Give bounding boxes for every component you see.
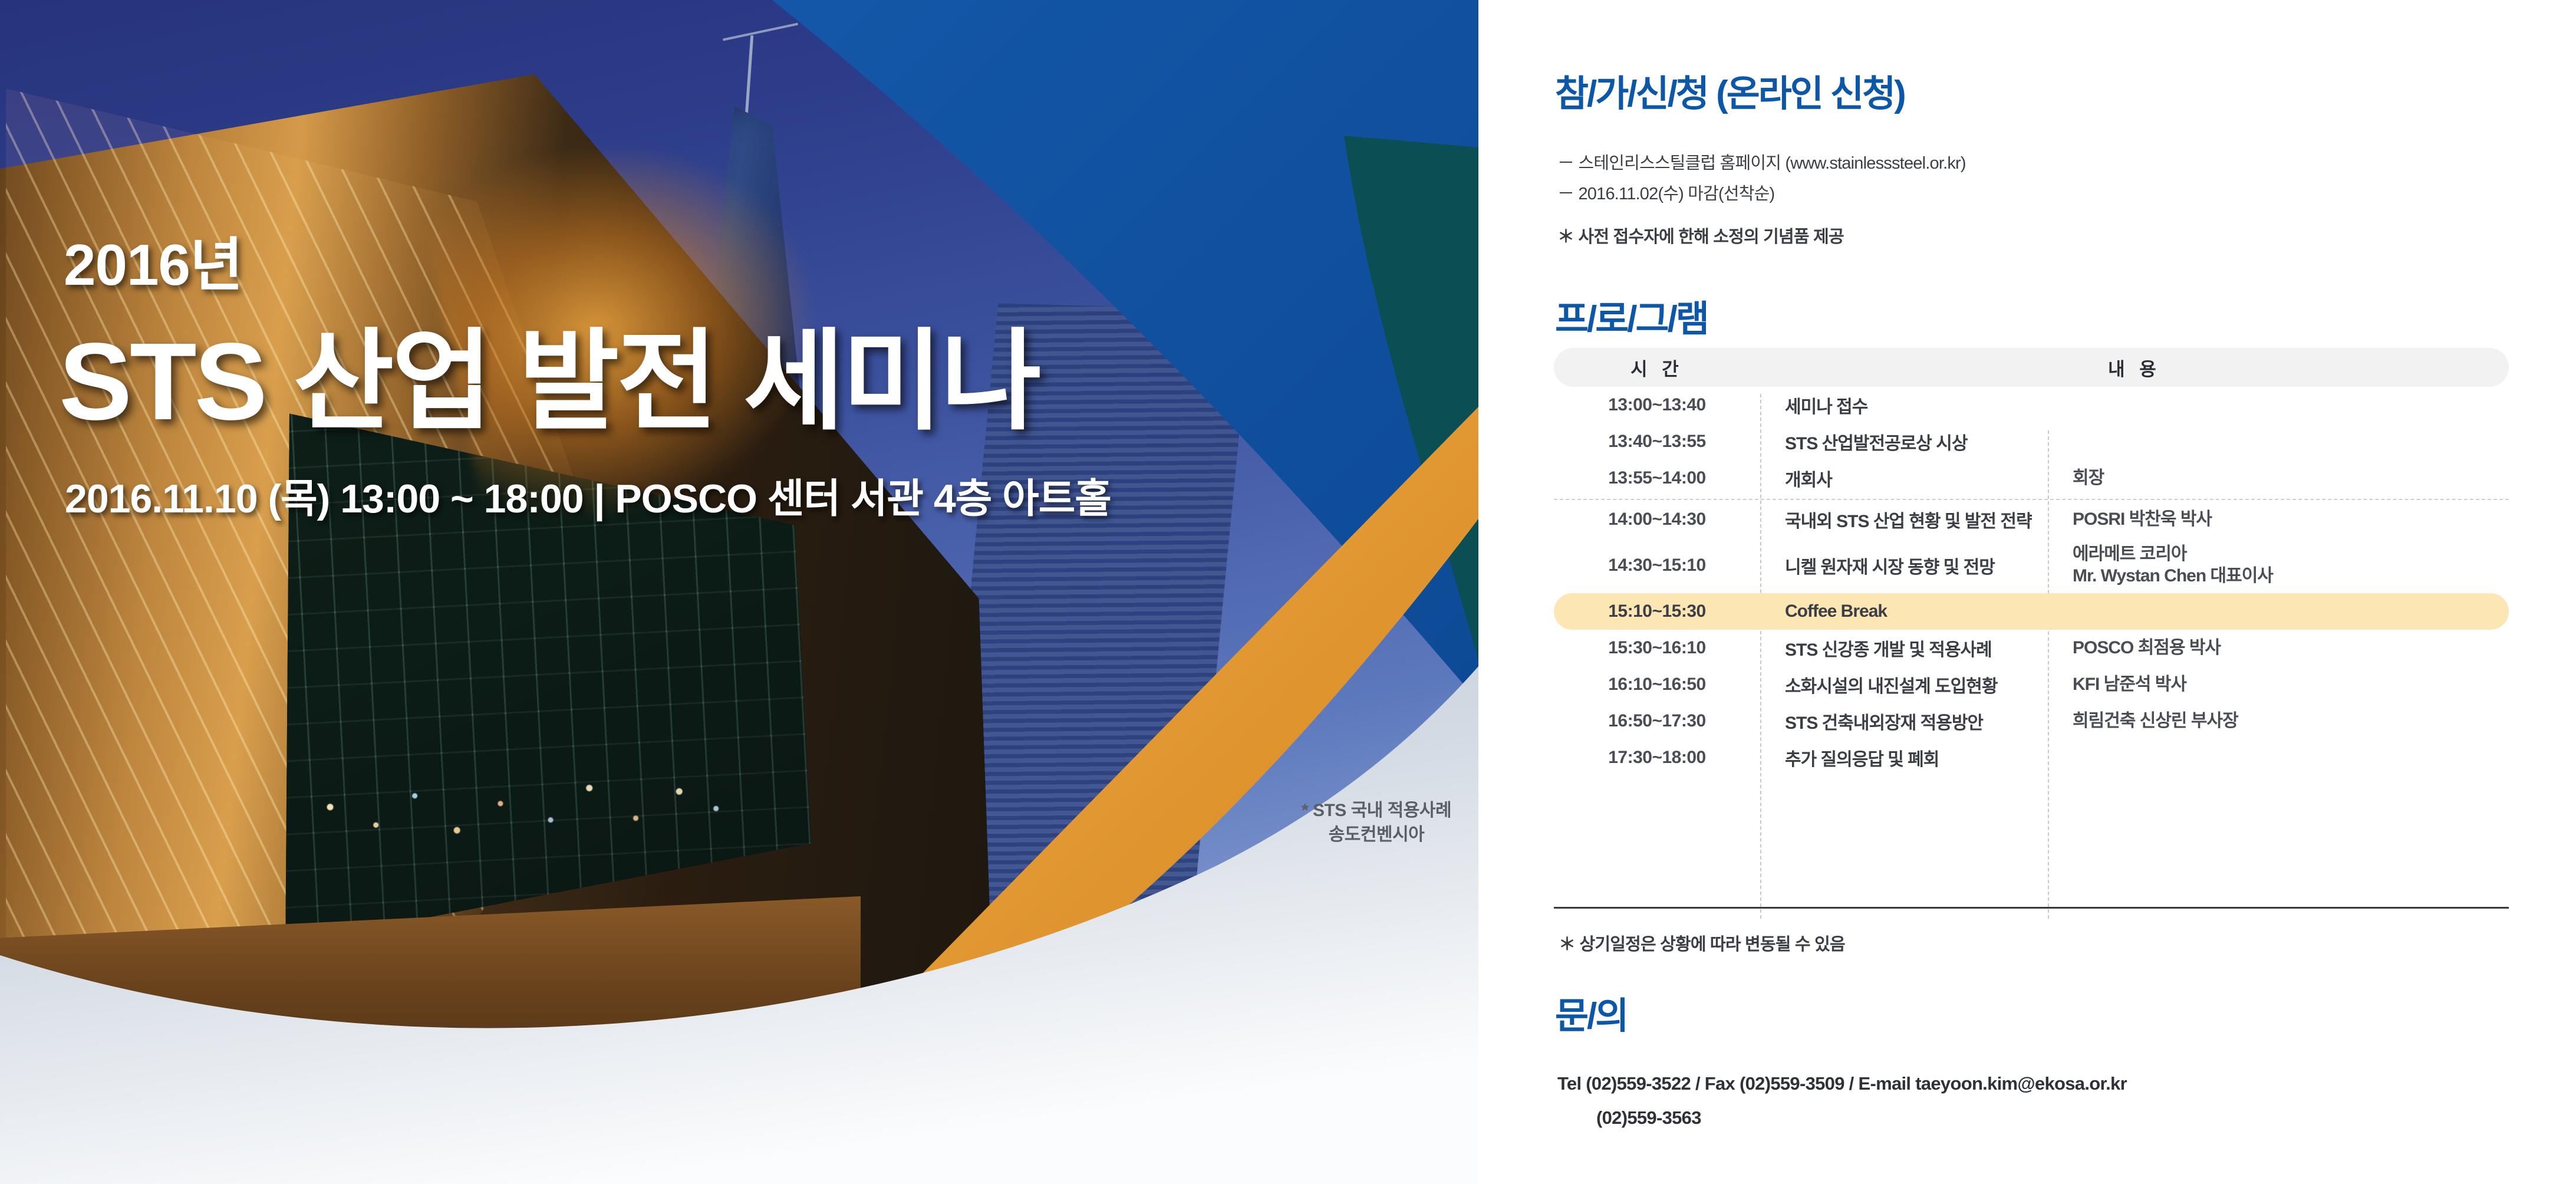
col-header-content: 내 용 [2108,359,2161,380]
table-row: 16:10~16:50소화시설의 내진설계 도입현황KFI 남준석 박사 [1554,666,2509,703]
photo-caption: * STS 국내 적용사례 송도컨벤시아 [1279,799,1474,847]
poster-footer: 주최 한국철강협회 스테인리스스틸클럽 후원 KIM 대한금속 · 재료학회 T… [0,989,1478,1184]
cell-content: 추가 질의응답 및 폐회 [1760,745,2048,771]
cell-speaker: 회장 [2048,468,2509,489]
poster-subtitle: 2016.11.10 (목) 13:00 ~ 18:00 | POSCO 센터 … [65,466,1111,524]
cell-content: 세미나 접수 [1760,392,2048,418]
inquiry-contact-line1: Tel (02)559-3522 / Fax (02)559-3509 / E-… [1557,1073,2127,1094]
col-header-time: 시 간 [1630,359,1684,380]
cell-time: 14:00~14:30 [1554,509,1760,529]
poster-title: STS 산업 발전 세미나 [59,292,1039,451]
table-row: 13:40~13:55STS 산업발전공로상 시상 [1554,423,2509,460]
apply-line-gift: ＊ 사전 접수자에 한해 소정의 기념품 제공 [1557,223,1844,248]
cell-content: Coffee Break [1760,601,2048,621]
cell-content: STS 산업발전공로상 시상 [1760,429,2048,455]
cell-content: 소화시설의 내진설계 도입현황 [1760,672,2048,698]
photo-caption-line2: 송도컨벤시아 [1279,823,1474,847]
apply-line-homepage: － 스테인리스스틸클럽 홈페이지 (www.stainlesssteel.or.… [1557,149,1966,174]
table-header-row: 시 간 내 용 [1554,348,2509,387]
table-row: 13:00~13:40세미나 접수 [1554,387,2509,423]
table-row: 14:30~15:10니켈 원자재 시장 동향 및 전망에라메트 코리아Mr. … [1554,538,2509,593]
cell-speaker: 희림건축 신상린 부사장 [2048,711,2509,732]
table-body: 13:00~13:40세미나 접수13:40~13:55STS 산업발전공로상 … [1554,387,2509,776]
row-group-separator [1554,499,2509,500]
cell-time: 17:30~18:00 [1554,748,1760,768]
cell-speaker: KFI 남준석 박사 [2048,674,2509,696]
cell-time: 15:10~15:30 [1554,601,1760,621]
cell-content: STS 신강종 개발 및 적용사례 [1760,635,2048,661]
apply-heading: 참/가/신/청 (온라인 신청) [1555,64,1905,117]
inquiry-heading: 문/의 [1555,986,1627,1039]
cell-time: 13:40~13:55 [1554,432,1760,452]
table-row: 16:50~17:30STS 건축내외장재 적용방안희림건축 신상린 부사장 [1554,703,2509,739]
cell-content: 개회사 [1760,465,2048,491]
cell-content: STS 건축내외장재 적용방안 [1760,708,2048,734]
table-row: 13:55~14:00개회사회장 [1554,460,2509,496]
table-row: 17:30~18:00추가 질의응답 및 폐회 [1554,739,2509,776]
poster-year: 2016년 [64,218,242,302]
table-row: 14:00~14:30국내외 STS 산업 현황 및 발전 전략POSRI 박찬… [1554,501,2509,538]
seminar-flyer: 2016년 STS 산업 발전 세미나 2016.11.10 (목) 13:00… [0,0,2576,1184]
cell-speaker: 에라메트 코리아Mr. Wystan Chen 대표이사 [2048,544,2509,587]
cell-content: 국내외 STS 산업 현황 및 발전 전략 [1760,507,2048,532]
cell-speaker: POSCO 최점용 박사 [2048,637,2509,659]
cell-time: 16:50~17:30 [1554,711,1760,731]
cell-time: 15:30~16:10 [1554,638,1760,658]
program-table: 시 간 내 용 13:00~13:40세미나 접수13:40~13:55STS … [1554,348,2509,776]
poster-panel: 2016년 STS 산업 발전 세미나 2016.11.10 (목) 13:00… [0,0,1478,1184]
program-heading: 프/로/그/램 [1555,289,1708,342]
apply-line-deadline: － 2016.11.02(수) 마감(선착순) [1557,180,1774,205]
cell-time: 13:55~14:00 [1554,468,1760,488]
cell-time: 16:10~16:50 [1554,675,1760,695]
cell-time: 14:30~15:10 [1554,555,1760,575]
photo-caption-line1: * STS 국내 적용사례 [1279,799,1474,823]
cell-time: 13:00~13:40 [1554,395,1760,415]
content-panel: 참/가/신/청 (온라인 신청) － 스테인리스스틸클럽 홈페이지 (www.s… [1478,0,2576,1184]
table-row: 15:30~16:10STS 신강종 개발 및 적용사례POSCO 최점용 박사 [1554,630,2509,666]
table-bottom-rule [1554,907,2509,909]
cell-content: 니켈 원자재 시장 동향 및 전망 [1760,552,2048,578]
program-note: ＊ 상기일정은 상황에 따라 변동될 수 있음 [1559,930,1845,955]
cell-speaker: POSRI 박찬욱 박사 [2048,509,2509,531]
table-rows: 13:00~13:40세미나 접수13:40~13:55STS 산업발전공로상 … [1554,387,2509,776]
table-row-break: 15:10~15:30Coffee Break [1554,593,2509,630]
inquiry-contact-line2: (02)559-3563 [1596,1107,1701,1129]
